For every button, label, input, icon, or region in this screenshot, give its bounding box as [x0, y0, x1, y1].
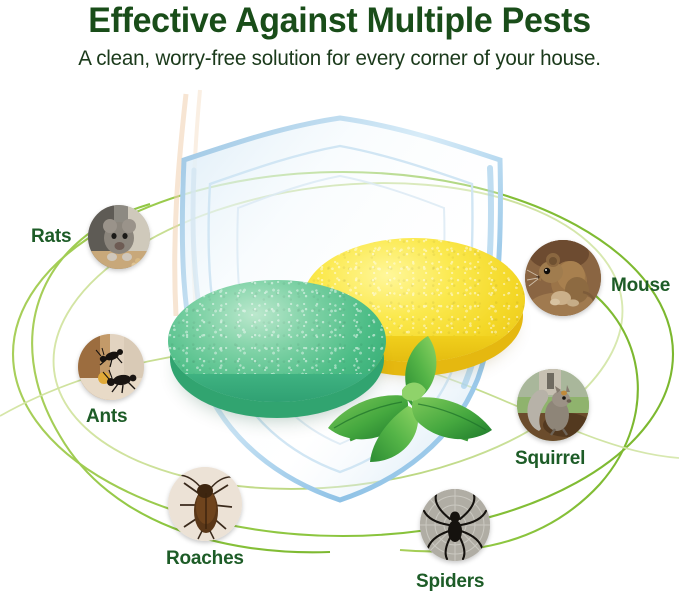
spider-photo-icon[interactable] — [420, 489, 490, 561]
squirrel-photo-icon[interactable] — [517, 369, 589, 441]
mint-leaf-right — [412, 397, 492, 439]
headline-block: Effective Against Multiple Pests A clean… — [0, 0, 679, 71]
page-subtitle: A clean, worry-free solution for every c… — [7, 40, 672, 71]
rat-photo-icon[interactable] — [88, 205, 150, 269]
mouse-photo-icon[interactable] — [525, 240, 601, 316]
pest-node-roaches[interactable]: Roaches — [150, 464, 330, 594]
mint-leaves — [316, 336, 502, 466]
pest-node-spiders[interactable]: Spiders — [405, 484, 585, 595]
pest-node-ants[interactable]: Ants — [55, 326, 215, 456]
ant-photo-icon[interactable] — [78, 334, 144, 400]
pest-label-spiders: Spiders — [416, 571, 484, 593]
pest-label-rats: Rats — [31, 226, 71, 248]
pest-node-squirrel[interactable]: Squirrel — [505, 361, 679, 486]
pest-label-mouse: Mouse — [611, 275, 670, 297]
pest-node-mouse[interactable]: Mouse — [518, 231, 679, 331]
pest-label-roaches: Roaches — [166, 548, 244, 570]
page-title: Effective Against Multiple Pests — [10, 0, 669, 40]
pest-label-ants: Ants — [86, 406, 127, 428]
pest-node-rats[interactable]: Rats — [0, 196, 170, 296]
pest-control-product-poster: Effective Against Multiple Pests A clean… — [0, 0, 679, 595]
roach-photo-icon[interactable] — [168, 467, 242, 541]
pest-label-squirrel: Squirrel — [515, 448, 585, 470]
artwork-stage: Rats — [0, 86, 679, 595]
